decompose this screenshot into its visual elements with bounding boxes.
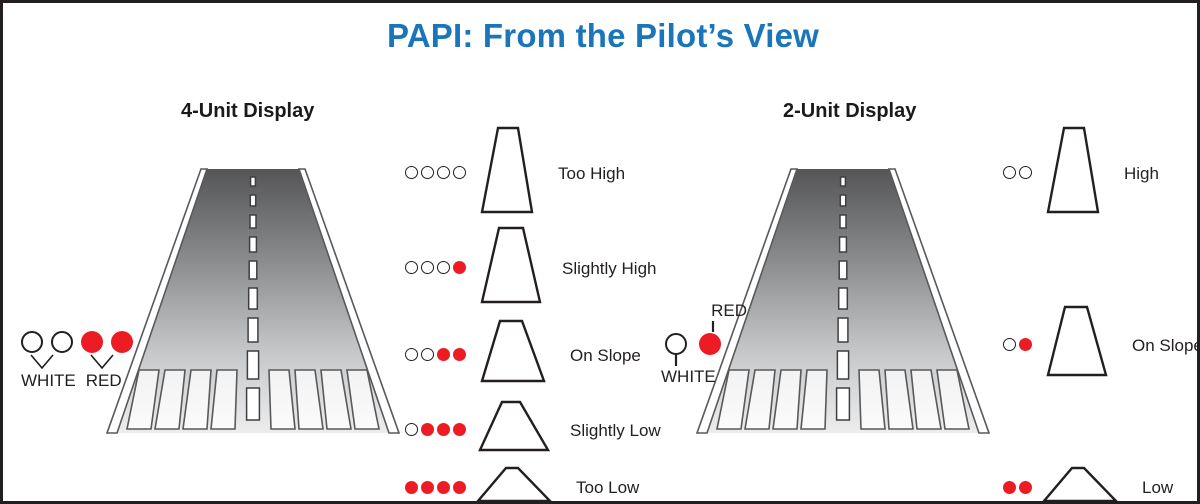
section-heading-two-unit: 2-Unit Display bbox=[783, 100, 916, 123]
runway-perspective-four-unit bbox=[103, 165, 403, 448]
papi-label-white: WHITE bbox=[661, 367, 716, 386]
papi-lamp-white-2 bbox=[51, 331, 73, 353]
indicator-caption: Too Low bbox=[576, 478, 639, 498]
indicator-light-red-1 bbox=[1003, 481, 1016, 494]
indicator-light-white-1 bbox=[1003, 338, 1016, 351]
indicator-light-red-3 bbox=[437, 481, 450, 494]
papi-lamp-red-1 bbox=[699, 333, 721, 355]
runway-shape-on-slope bbox=[470, 317, 556, 392]
papi-lamp-pointers bbox=[21, 354, 133, 372]
indicator-lights bbox=[1003, 166, 1032, 179]
indicator-light-white-3 bbox=[437, 261, 450, 274]
indicator-light-white-1 bbox=[405, 348, 418, 361]
indicator-light-red-4 bbox=[453, 481, 466, 494]
indicator-light-red-2 bbox=[453, 348, 466, 361]
papi-lamp-row bbox=[665, 333, 747, 355]
indicator-caption: On Slope bbox=[570, 346, 641, 366]
indicator-lights bbox=[405, 261, 466, 274]
runway-shape-high bbox=[1036, 124, 1110, 221]
indicator-light-white-1 bbox=[1003, 166, 1016, 179]
indicator-caption: Too High bbox=[558, 164, 625, 184]
indicator-light-red-2 bbox=[1019, 481, 1032, 494]
indicator-light-white-1 bbox=[405, 166, 418, 179]
page-title: PAPI: From the Pilot’s View bbox=[3, 17, 1200, 55]
indicator-row-slightly-high: Slightly High bbox=[405, 224, 657, 311]
runway-svg bbox=[103, 165, 403, 443]
papi-lamp-red-2 bbox=[111, 331, 133, 353]
indicator-caption: Low bbox=[1142, 478, 1173, 498]
indicator-lights bbox=[1003, 338, 1032, 351]
indicator-light-red-1 bbox=[437, 348, 450, 361]
indicator-light-white-2 bbox=[421, 166, 434, 179]
papi-lamp-pointer-red bbox=[665, 321, 747, 333]
indicator-lights bbox=[405, 481, 466, 494]
papi-label-red: RED bbox=[86, 371, 122, 391]
indicator-light-white-2 bbox=[421, 261, 434, 274]
indicator-lights bbox=[1003, 481, 1032, 494]
papi-lamp-row bbox=[21, 331, 133, 353]
indicator-caption: Slightly Low bbox=[570, 421, 661, 441]
papi-label-red: RED bbox=[711, 301, 747, 320]
indicator-row-low: Low bbox=[1003, 463, 1173, 504]
indicator-row-too-high: Too High bbox=[405, 124, 625, 221]
indicator-light-red-1 bbox=[453, 261, 466, 274]
indicator-light-red-1 bbox=[1019, 338, 1032, 351]
indicator-row-high: High bbox=[1003, 124, 1159, 221]
indicator-light-white-1 bbox=[405, 423, 418, 436]
indicator-light-white-3 bbox=[437, 166, 450, 179]
papi-lamp-white-1 bbox=[21, 331, 43, 353]
runway-shape-too-low bbox=[470, 463, 562, 504]
indicator-light-red-3 bbox=[453, 423, 466, 436]
indicator-lights bbox=[405, 423, 466, 436]
indicator-light-red-1 bbox=[421, 423, 434, 436]
runway-shape-low bbox=[1036, 463, 1128, 504]
papi-label-white: WHITE bbox=[21, 371, 76, 391]
papi-light-bar-two-unit: RED WHITE bbox=[665, 301, 747, 387]
indicator-lights bbox=[405, 166, 466, 179]
indicator-row-slightly-low: Slightly Low bbox=[405, 398, 661, 461]
indicator-light-red-2 bbox=[437, 423, 450, 436]
indicator-light-white-2 bbox=[421, 348, 434, 361]
indicator-light-white-4 bbox=[453, 166, 466, 179]
indicator-light-red-2 bbox=[421, 481, 434, 494]
papi-lamp-red-1 bbox=[81, 331, 103, 353]
runway-shape-too-high bbox=[470, 124, 544, 221]
indicator-row-on-slope: On Slope bbox=[1003, 303, 1200, 386]
indicator-light-red-1 bbox=[405, 481, 418, 494]
indicator-light-white-2 bbox=[1019, 166, 1032, 179]
papi-lamp-white-1 bbox=[665, 333, 687, 355]
runway-shape-slightly-low bbox=[470, 398, 560, 461]
section-heading-four-unit: 4-Unit Display bbox=[181, 100, 314, 123]
indicator-row-on-slope: On Slope bbox=[405, 317, 641, 392]
papi-diagram: PAPI: From the Pilot’s View 4-Unit Displ… bbox=[0, 0, 1200, 504]
papi-light-bar-four-unit: WHITE RED bbox=[21, 331, 133, 391]
indicator-row-too-low: Too Low bbox=[405, 463, 639, 504]
indicator-light-white-1 bbox=[405, 261, 418, 274]
papi-lamp-pointer-white bbox=[665, 355, 747, 367]
runway-shape-on-slope bbox=[1036, 303, 1118, 386]
indicator-caption: On Slope bbox=[1132, 336, 1200, 356]
indicator-caption: High bbox=[1124, 164, 1159, 184]
runway-shape-slightly-high bbox=[470, 224, 552, 311]
indicator-caption: Slightly High bbox=[562, 259, 657, 279]
indicator-lights bbox=[405, 348, 466, 361]
